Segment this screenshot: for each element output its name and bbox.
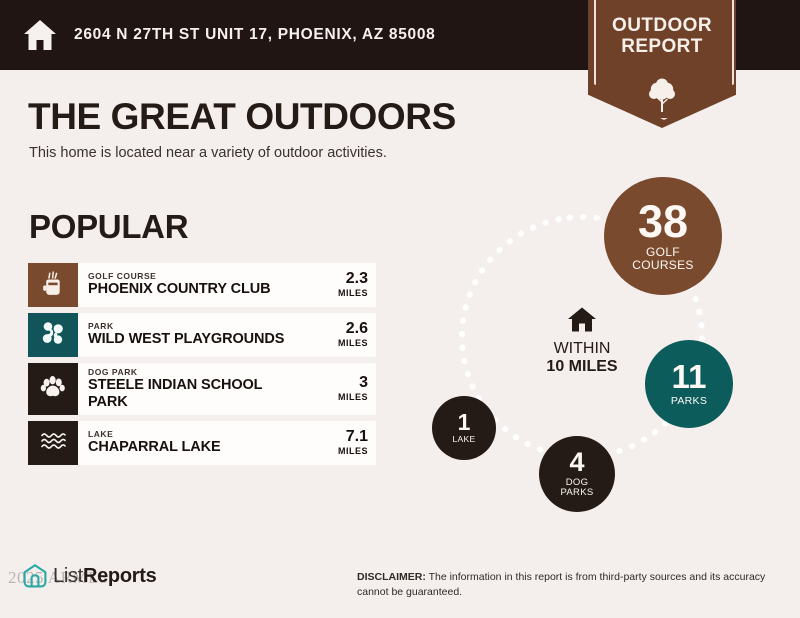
outdoor-report-page: 2604 N 27TH ST UNIT 17, PHOENIX, AZ 8500…: [0, 0, 800, 618]
disclaimer-label: DISCLAIMER:: [357, 571, 426, 583]
center-radius-label: WITHIN 10 MILES: [522, 306, 642, 376]
house-outline-icon: [22, 563, 48, 589]
list-item-category: PARK: [88, 321, 284, 331]
list-item-icon-tile: [28, 313, 78, 357]
list-item-distance: 2.6 MILES: [328, 321, 368, 348]
list-item[interactable]: DOG PARK STEELE INDIAN SCHOOL PARK 3 MIL…: [28, 363, 376, 415]
stat-bubble-lake[interactable]: 1 LAKE: [432, 396, 496, 460]
list-item-label: LAKE CHAPARRAL LAKE: [88, 429, 221, 455]
list-item-distance-value: 3: [328, 375, 368, 392]
list-item-name: CHAPARRAL LAKE: [88, 439, 221, 455]
stat-bubble-parks[interactable]: 11 PARKS: [645, 340, 733, 428]
badge-title-line1: OUTDOOR: [588, 16, 736, 37]
list-item-icon-tile: [28, 263, 78, 307]
stat-count: 38: [638, 200, 688, 243]
home-icon: [22, 18, 58, 52]
stat-label: GOLF COURSES: [632, 246, 693, 272]
list-item-name: STEELE INDIAN SCHOOL PARK: [88, 377, 288, 409]
stat-count: 11: [672, 361, 707, 393]
listreports-logo[interactable]: ListReports: [22, 563, 156, 589]
home-icon: [522, 306, 642, 333]
stat-label: PARKS: [671, 396, 707, 408]
paw-icon: [39, 373, 67, 406]
stat-label: LAKE: [453, 435, 476, 444]
list-item-label: GOLF COURSE PHOENIX COUNTRY CLUB: [88, 271, 271, 297]
list-item-distance: 3 MILES: [328, 375, 368, 402]
stat-count: 4: [569, 450, 584, 476]
header-content: 2604 N 27TH ST UNIT 17, PHOENIX, AZ 8500…: [22, 0, 436, 70]
list-item[interactable]: PARK WILD WEST PLAYGROUNDS 2.6 MILES: [28, 313, 376, 357]
logo-text-reports: Reports: [83, 565, 156, 587]
list-item-distance-unit: MILES: [328, 288, 368, 298]
popular-heading: POPULAR: [29, 208, 188, 246]
list-item-body: LAKE CHAPARRAL LAKE 7.1 MILES: [78, 421, 376, 465]
list-item-distance-unit: MILES: [328, 446, 368, 456]
list-item-body: PARK WILD WEST PLAYGROUNDS 2.6 MILES: [78, 313, 376, 357]
list-item-distance-value: 2.3: [328, 271, 368, 288]
waves-icon: [39, 427, 67, 460]
stat-bubble-golf-courses[interactable]: 38 GOLF COURSES: [604, 177, 722, 295]
list-item[interactable]: GOLF COURSE PHOENIX COUNTRY CLUB 2.3 MIL…: [28, 263, 376, 307]
park-icon: [39, 319, 67, 352]
list-item-body: DOG PARK STEELE INDIAN SCHOOL PARK 3 MIL…: [78, 363, 376, 415]
list-item-distance: 7.1 MILES: [328, 429, 368, 456]
center-label-line1: WITHIN: [522, 340, 642, 358]
stat-label: DOG PARKS: [560, 478, 593, 499]
list-item-category: GOLF COURSE: [88, 271, 271, 281]
list-item-body: GOLF COURSE PHOENIX COUNTRY CLUB 2.3 MIL…: [78, 263, 376, 307]
list-item-name: PHOENIX COUNTRY CLUB: [88, 281, 271, 297]
list-item-icon-tile: [28, 363, 78, 415]
list-item-name: WILD WEST PLAYGROUNDS: [88, 331, 284, 347]
list-item-label: PARK WILD WEST PLAYGROUNDS: [88, 321, 284, 347]
stats-diagram: WITHIN 10 MILES 38 GOLF COURSES 11 PARKS…: [410, 165, 800, 550]
list-item-distance-value: 7.1: [328, 429, 368, 446]
list-item-category: DOG PARK: [88, 367, 288, 377]
list-item-icon-tile: [28, 421, 78, 465]
page-subtitle: This home is located near a variety of o…: [29, 145, 387, 161]
page-title: THE GREAT OUTDOORS: [28, 96, 456, 138]
list-item-distance-value: 2.6: [328, 321, 368, 338]
stat-count: 1: [458, 411, 471, 433]
list-item[interactable]: LAKE CHAPARRAL LAKE 7.1 MILES: [28, 421, 376, 465]
list-item-distance: 2.3 MILES: [328, 271, 368, 298]
golf-bag-icon: [39, 269, 67, 302]
disclaimer: DISCLAIMER: The information in this repo…: [357, 570, 777, 600]
stat-label-line2: COURSES: [632, 259, 693, 272]
property-address: 2604 N 27TH ST UNIT 17, PHOENIX, AZ 8500…: [74, 26, 436, 44]
list-item-distance-unit: MILES: [328, 392, 368, 402]
badge-title: OUTDOOR REPORT: [588, 16, 736, 57]
list-item-label: DOG PARK STEELE INDIAN SCHOOL PARK: [88, 367, 288, 410]
list-item-distance-unit: MILES: [328, 338, 368, 348]
badge-title-line2: REPORT: [588, 37, 736, 58]
listreports-wordmark: ListReports: [53, 565, 156, 588]
list-item-category: LAKE: [88, 429, 221, 439]
center-label-line2: 10 MILES: [522, 358, 642, 376]
stat-label-line2: PARKS: [560, 488, 593, 498]
popular-list: GOLF COURSE PHOENIX COUNTRY CLUB 2.3 MIL…: [28, 263, 376, 471]
stat-bubble-dog-parks[interactable]: 4 DOG PARKS: [539, 436, 615, 512]
logo-text-list: List: [53, 565, 83, 587]
